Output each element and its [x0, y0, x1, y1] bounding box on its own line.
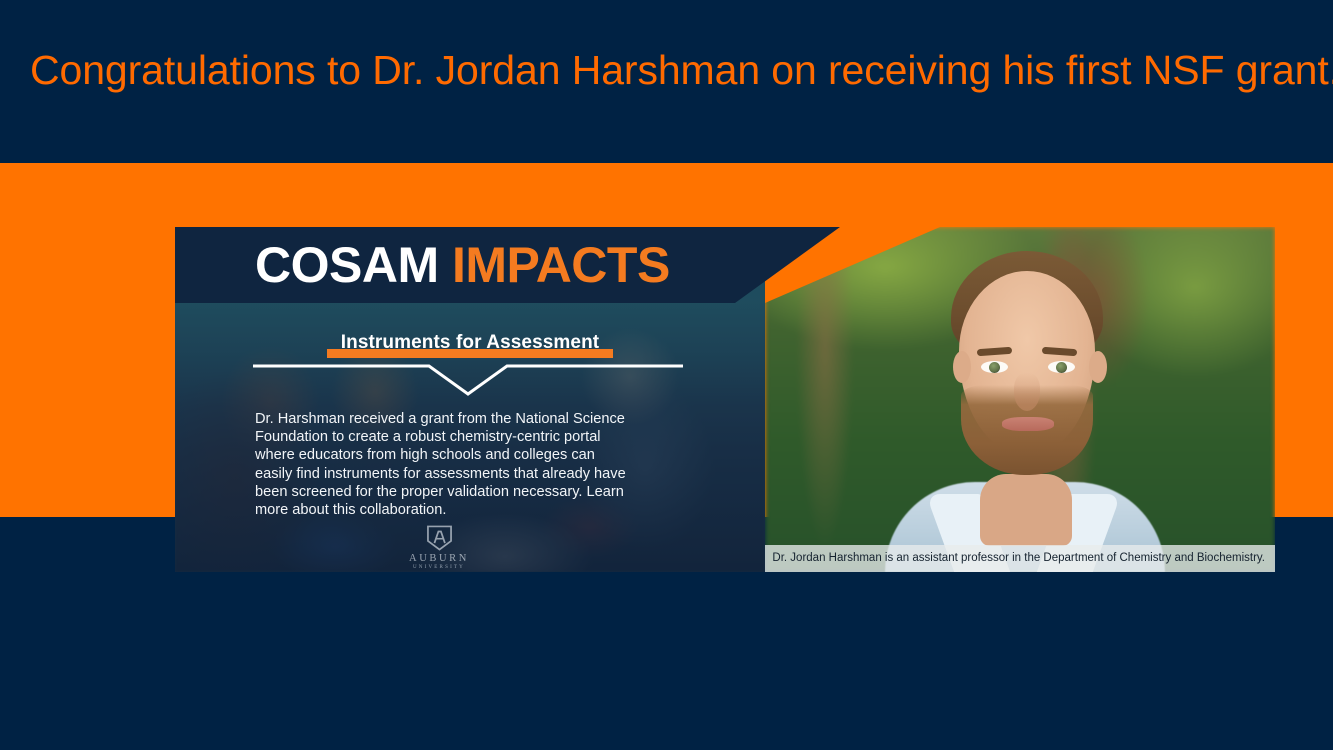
portrait-ear-right — [1089, 351, 1107, 383]
brand-cosam: COSAM — [255, 237, 439, 293]
card-subtitle: Instruments for Assessment — [327, 330, 613, 358]
cosam-impacts-card: COSAM IMPACTS Instruments for Assessment… — [175, 227, 1275, 572]
v-divider-rule — [253, 363, 683, 397]
presentation-slide: Congratulations to Dr. Jordan Harshman o… — [0, 0, 1333, 750]
portrait-eye-left — [981, 361, 1008, 373]
brand-impacts: IMPACTS — [452, 237, 670, 293]
photo-caption: Dr. Jordan Harshman is an assistant prof… — [765, 545, 1275, 573]
card-body-text: Dr. Harshman received a grant from the N… — [255, 410, 627, 519]
portrait-iris-left — [989, 362, 1000, 373]
portrait-ear-left — [953, 351, 971, 383]
slide-title-area: Congratulations to Dr. Jordan Harshman o… — [0, 0, 1333, 163]
portrait-neck — [980, 474, 1072, 546]
card-subtitle-text: Instruments for Assessment — [341, 332, 599, 353]
portrait-mouth — [1002, 417, 1054, 431]
card-subtitle-wrap: Instruments for Assessment — [175, 330, 765, 358]
auburn-university-logo: AUBURN UNIVERSITY — [403, 525, 475, 570]
auburn-logo-sub: UNIVERSITY — [403, 565, 475, 570]
portrait-nose — [1014, 373, 1040, 411]
portrait-iris-right — [1056, 362, 1067, 373]
auburn-logo-name: AUBURN — [403, 553, 475, 564]
brand-wordmark: COSAM IMPACTS — [255, 236, 670, 294]
page-title: Congratulations to Dr. Jordan Harshman o… — [30, 47, 1333, 94]
card-header-bar: COSAM IMPACTS — [175, 227, 840, 303]
portrait-eye-right — [1048, 361, 1075, 373]
portrait-photo: Dr. Jordan Harshman is an assistant prof… — [765, 227, 1275, 572]
auburn-au-monogram-icon — [425, 525, 454, 551]
